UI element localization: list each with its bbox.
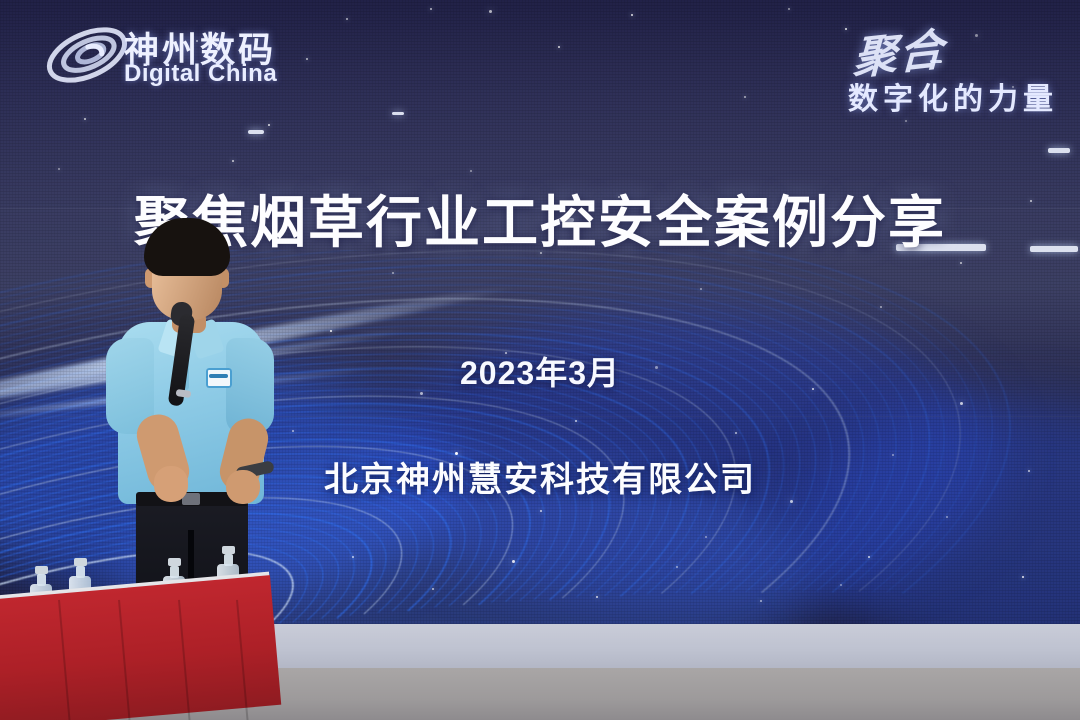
presenter [96,218,286,630]
presenter-hand-left [154,466,188,502]
shirt-chest-logo [206,368,232,388]
digital-china-swirl-logo [44,18,130,92]
table-skirt [0,575,281,720]
brand-name-en: Digital China [124,60,277,88]
shirt-chest-logo-bar [209,374,228,378]
presenter-hair [144,218,230,276]
event-tagline-subtitle: 数字化的力量 [848,74,1058,118]
conference-photo: 神州数码 Digital China 聚合 数字化的力量 聚焦烟草行业工控安全案… [0,0,1080,720]
presenter-hand-right [226,470,260,504]
